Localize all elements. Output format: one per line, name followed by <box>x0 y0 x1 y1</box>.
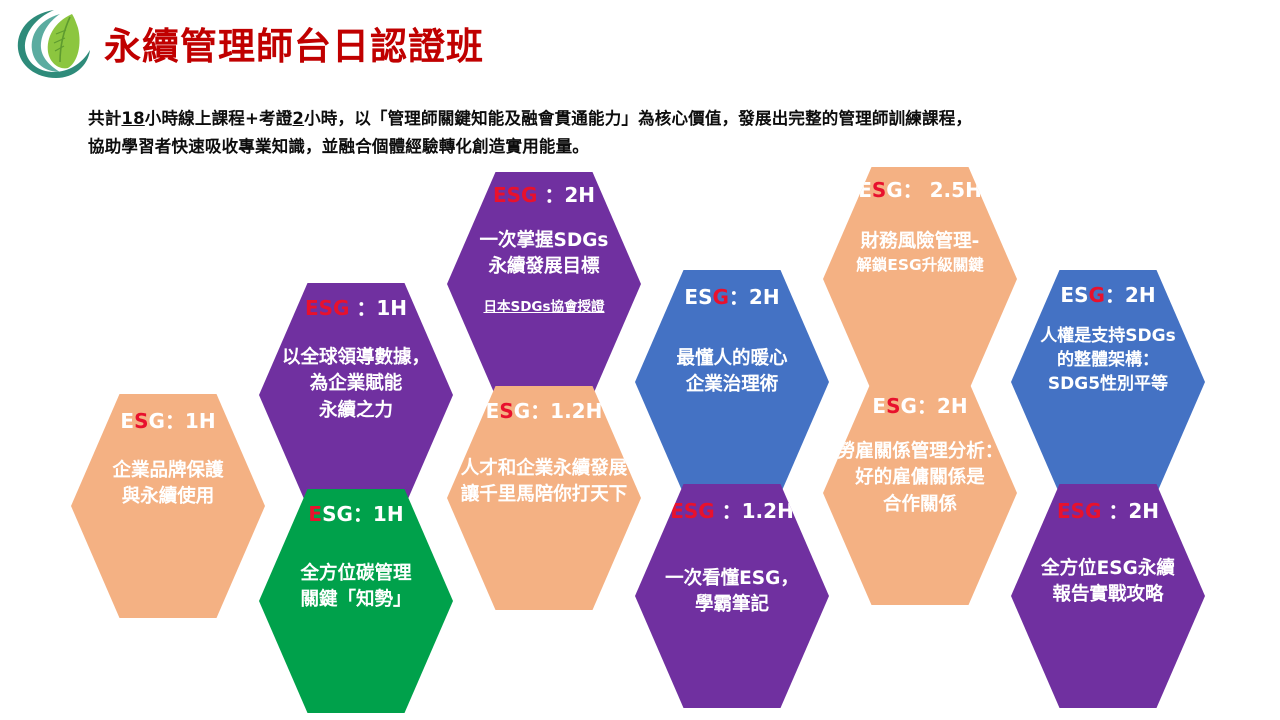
esg-prefix: E <box>872 394 886 418</box>
hex-esg-hours-label: ESG：1H <box>120 410 215 432</box>
hex-card-human-rights-sdgs[interactable]: ESG：2H人權是支持SDGs 的整體架構： SDG5性別平等 <box>1011 270 1205 494</box>
esg-red-letter: ESG <box>1057 499 1101 523</box>
esg-red-letter: S <box>886 394 900 418</box>
esg-red-letter: ESG <box>305 296 349 320</box>
esg-suffix: ：2H <box>729 285 780 309</box>
esg-prefix: ES <box>684 285 712 309</box>
hex-esg-hours-label: ESG：1.2H <box>486 400 603 422</box>
hex-esg-hours-label: ESG ：1.2H <box>670 500 794 522</box>
hexagon-honeycomb: ESG：1H企業品牌保護 與永續使用ESG ：1H以全球領導數據， 為企業賦能 … <box>0 0 1280 720</box>
esg-red-letter: S <box>872 178 886 202</box>
esg-red-letter: G <box>713 285 729 309</box>
hex-course-title: 人才和企業永續發展 讓千里馬陪你打天下 <box>461 456 628 509</box>
hex-course-title: 最懂人的暖心 企業治理術 <box>676 346 787 399</box>
hex-esg-hours-label: ESG：2H <box>1060 284 1155 306</box>
esg-suffix: G：1.2H <box>514 399 603 423</box>
hex-course-subtitle: 解鎖ESG升級關鍵 <box>856 255 983 275</box>
hex-course-title: 人權是支持SDGs 的整體架構： SDG5性別平等 <box>1040 324 1175 396</box>
esg-red-letter: ESG <box>670 499 714 523</box>
hex-certification-note: 日本SDGs協會授證 <box>483 299 604 315</box>
hex-card-esg-quick-notes[interactable]: ESG ：1.2H一次看懂ESG， 學霸筆記 <box>635 484 829 708</box>
hex-card-talent-sustainable-dev[interactable]: ESG：1.2H人才和企業永續發展 讓千里馬陪你打天下 <box>447 386 641 610</box>
esg-red-letter: E <box>308 502 322 526</box>
esg-suffix: ：2H <box>537 183 595 207</box>
hex-esg-hours-label: ESG：2H <box>872 395 967 417</box>
hex-course-title: 一次掌握SDGs 永續發展目標 <box>480 228 609 281</box>
hex-esg-hours-label: ESG ：2H <box>1057 500 1159 522</box>
hex-course-title: 企業品牌保護 與永續使用 <box>112 458 223 511</box>
hex-card-esg-report-strategy[interactable]: ESG ：2H全方位ESG永續 報告實戰攻略 <box>1011 484 1205 708</box>
esg-red-letter: G <box>1089 283 1105 307</box>
hex-esg-hours-label: ESG ：1H <box>305 297 407 319</box>
hex-card-sdgs-goals[interactable]: ESG ：2H一次掌握SDGs 永續發展目標日本SDGs協會授證 <box>447 172 641 396</box>
hex-esg-hours-label: ESG：1H <box>308 503 403 525</box>
esg-red-letter: S <box>499 399 513 423</box>
esg-red-letter: S <box>134 409 148 433</box>
hex-card-financial-risk[interactable]: ESG： 2.5H財務風險管理-解鎖ESG升級關鍵 <box>823 167 1017 391</box>
hex-esg-hours-label: ESG：2H <box>684 286 779 308</box>
hex-course-title: 勞雇關係管理分析： 好的雇傭關係是 合作關係 <box>837 439 1004 518</box>
hex-esg-hours-label: ESG： 2.5H <box>858 179 982 201</box>
esg-prefix: E <box>486 399 500 423</box>
esg-suffix: ：1.2H <box>715 499 794 523</box>
esg-suffix: ：2H <box>1101 499 1159 523</box>
hex-course-title: 全方位ESG永續 報告實戰攻略 <box>1041 556 1175 609</box>
esg-prefix: E <box>120 409 134 433</box>
esg-prefix: E <box>858 178 872 202</box>
hex-course-title: 以全球領導數據， 為企業賦能 永續之力 <box>282 345 430 424</box>
hex-card-global-leading-data[interactable]: ESG ：1H以全球領導數據， 為企業賦能 永續之力 <box>259 283 453 507</box>
esg-prefix: ES <box>1060 283 1088 307</box>
hex-course-title: 一次看懂ESG， 學霸筆記 <box>665 566 799 619</box>
esg-red-letter: ESG <box>493 183 537 207</box>
esg-suffix: G：1H <box>149 409 216 433</box>
hex-course-title: 財務風險管理- <box>861 229 980 255</box>
hex-card-labor-relations[interactable]: ESG：2H勞雇關係管理分析： 好的雇傭關係是 合作關係 <box>823 381 1017 605</box>
esg-suffix: ：2H <box>1105 283 1156 307</box>
esg-suffix: ：1H <box>349 296 407 320</box>
esg-suffix: G：2H <box>901 394 968 418</box>
hex-card-carbon-management[interactable]: ESG：1H全方位碳管理 關鍵「知勢」 <box>259 489 453 713</box>
esg-suffix: SG：1H <box>322 502 403 526</box>
hex-esg-hours-label: ESG ：2H <box>493 184 595 206</box>
hex-course-title: 全方位碳管理 關鍵「知勢」 <box>300 561 411 614</box>
hex-card-brand-protection[interactable]: ESG：1H企業品牌保護 與永續使用 <box>71 394 265 618</box>
hex-card-warm-governance[interactable]: ESG：2H最懂人的暖心 企業治理術 <box>635 270 829 494</box>
esg-suffix: G： 2.5H <box>886 178 982 202</box>
